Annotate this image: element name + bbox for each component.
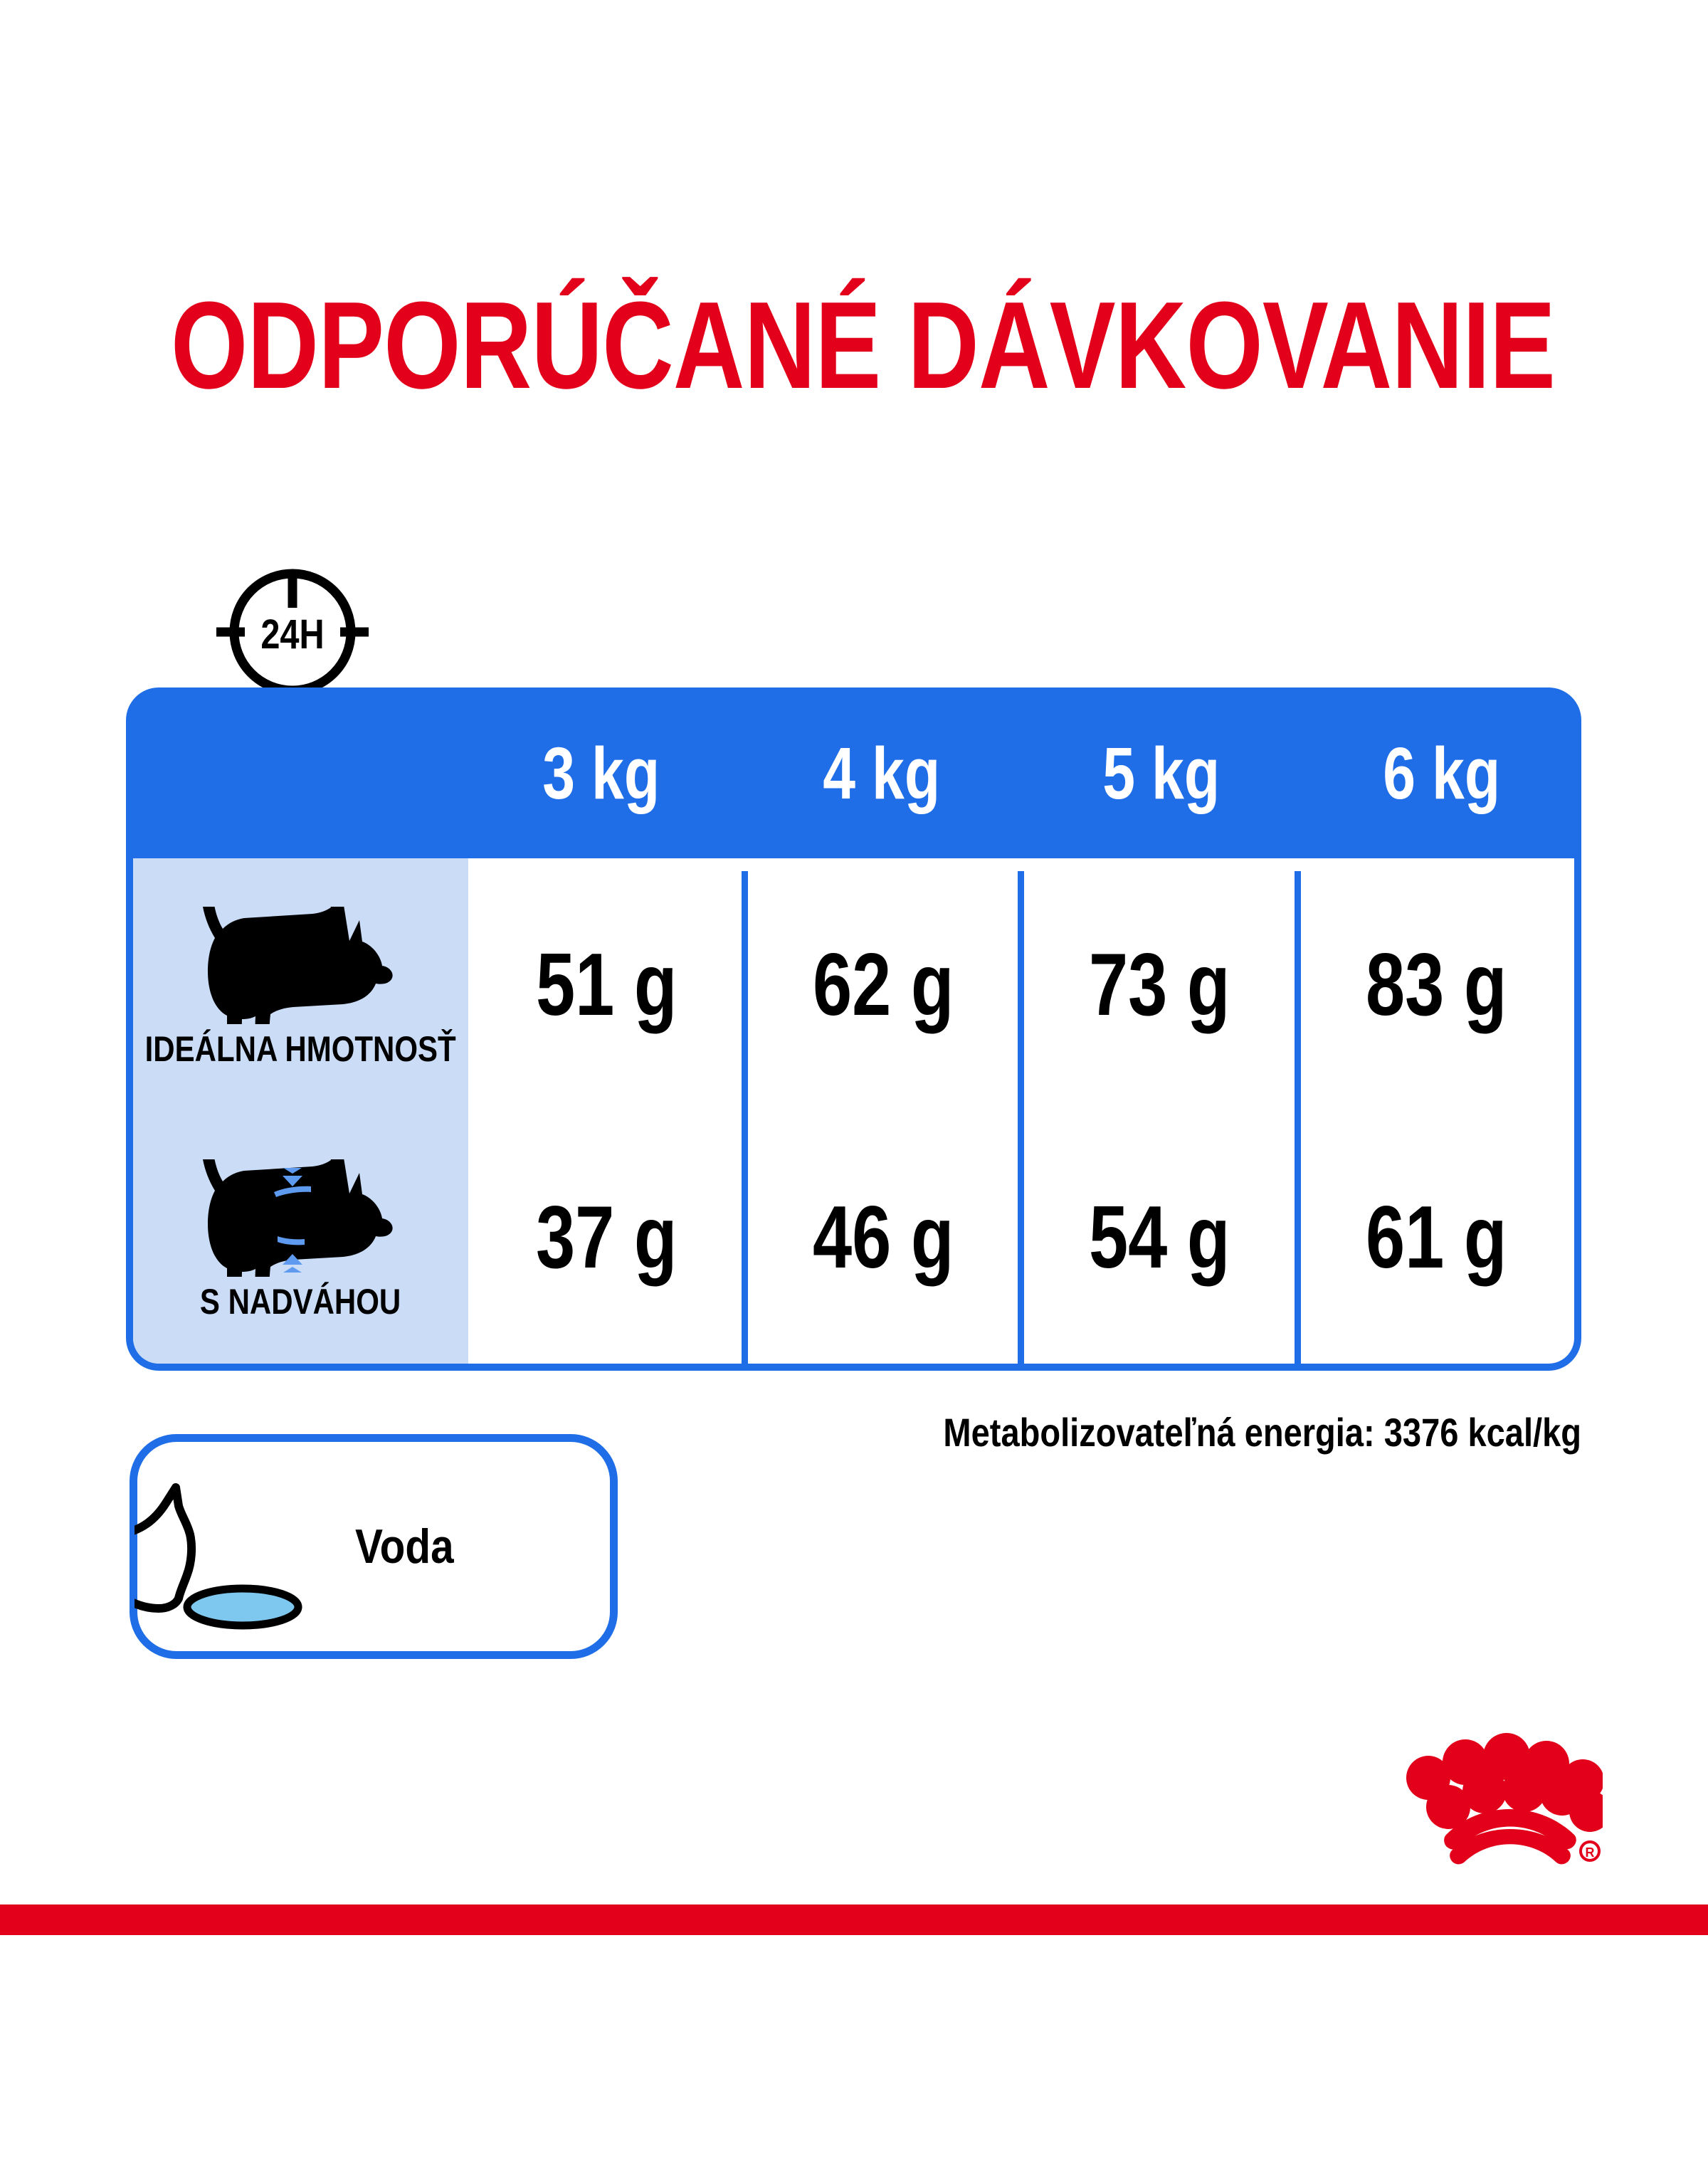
- cat-overweight-icon: [198, 1159, 404, 1277]
- table-body: IDEÁLNA HMOTNOSŤ: [126, 858, 1581, 1371]
- column-header-3kg: 3 kg: [489, 737, 713, 810]
- cat-drinking-water-icon: [135, 1463, 369, 1648]
- value-overweight-3kg: 37 g: [496, 1111, 717, 1364]
- cat-ideal-weight-icon-wrap: [198, 903, 404, 1024]
- feeding-table: 3 kg 4 kg 5 kg 6 kg IDEÁLNA HMOTNOSŤ: [126, 687, 1581, 1371]
- table-header-row: 3 kg 4 kg 5 kg 6 kg: [126, 687, 1581, 858]
- values-columns: 51 g 37 g 62 g 46 g 73 g 54 g 83 g 61 g: [468, 858, 1574, 1364]
- cat-overweight-icon-wrap: [198, 1156, 404, 1277]
- value-column-3kg: 51 g 37 g: [468, 858, 745, 1364]
- registered-trademark-mark: R: [1581, 1842, 1599, 1860]
- duration-badge-label: 24H: [260, 612, 324, 658]
- royal-canin-logo: R: [1361, 1715, 1603, 1879]
- cat-drinking-water-icon-wrap: [135, 1463, 369, 1648]
- duration-badge: 24H: [204, 555, 381, 697]
- value-overweight-5kg: 54 g: [1049, 1111, 1270, 1364]
- value-overweight-6kg: 61 g: [1325, 1111, 1546, 1364]
- svg-text:R: R: [1586, 1845, 1595, 1860]
- column-header-6kg: 6 kg: [1329, 737, 1554, 810]
- value-column-5kg: 73 g 54 g: [1021, 858, 1298, 1364]
- value-column-4kg: 62 g 46 g: [745, 858, 1022, 1364]
- metabolizable-energy-note: Metabolizovateľná energia: 3376 kcal/kg: [924, 1413, 1581, 1453]
- page-root: ODPORÚČANÉ DÁVKOVANIE 24H 3 kg 4 kg 5 kg…: [0, 0, 1708, 2160]
- value-ideal-5kg: 73 g: [1049, 858, 1270, 1111]
- water-box-label: Voda: [355, 1522, 454, 1571]
- row-label-overweight-text: S NADVÁHOU: [200, 1284, 401, 1319]
- value-ideal-6kg: 83 g: [1325, 858, 1546, 1111]
- water-box: Voda: [130, 1434, 618, 1659]
- value-column-6kg: 83 g 61 g: [1298, 858, 1575, 1364]
- value-ideal-3kg: 51 g: [496, 858, 717, 1111]
- row-label-overweight: S NADVÁHOU: [133, 1111, 468, 1364]
- row-label-column: IDEÁLNA HMOTNOSŤ: [133, 858, 468, 1364]
- royal-canin-crown-logo: R: [1361, 1715, 1603, 1879]
- column-header-4kg: 4 kg: [769, 737, 993, 810]
- clock-24h-icon: 24H: [204, 555, 381, 697]
- cat-ideal-weight-icon: [198, 907, 404, 1024]
- value-ideal-4kg: 62 g: [772, 858, 993, 1111]
- row-label-ideal-weight: IDEÁLNA HMOTNOSŤ: [133, 858, 468, 1111]
- footer-red-bar: [0, 1905, 1708, 1935]
- column-header-5kg: 5 kg: [1049, 737, 1273, 810]
- value-overweight-4kg: 46 g: [772, 1111, 993, 1364]
- row-label-ideal-weight-text: IDEÁLNA HMOTNOSŤ: [145, 1031, 456, 1067]
- page-title: ODPORÚČANÉ DÁVKOVANIE: [171, 283, 1537, 407]
